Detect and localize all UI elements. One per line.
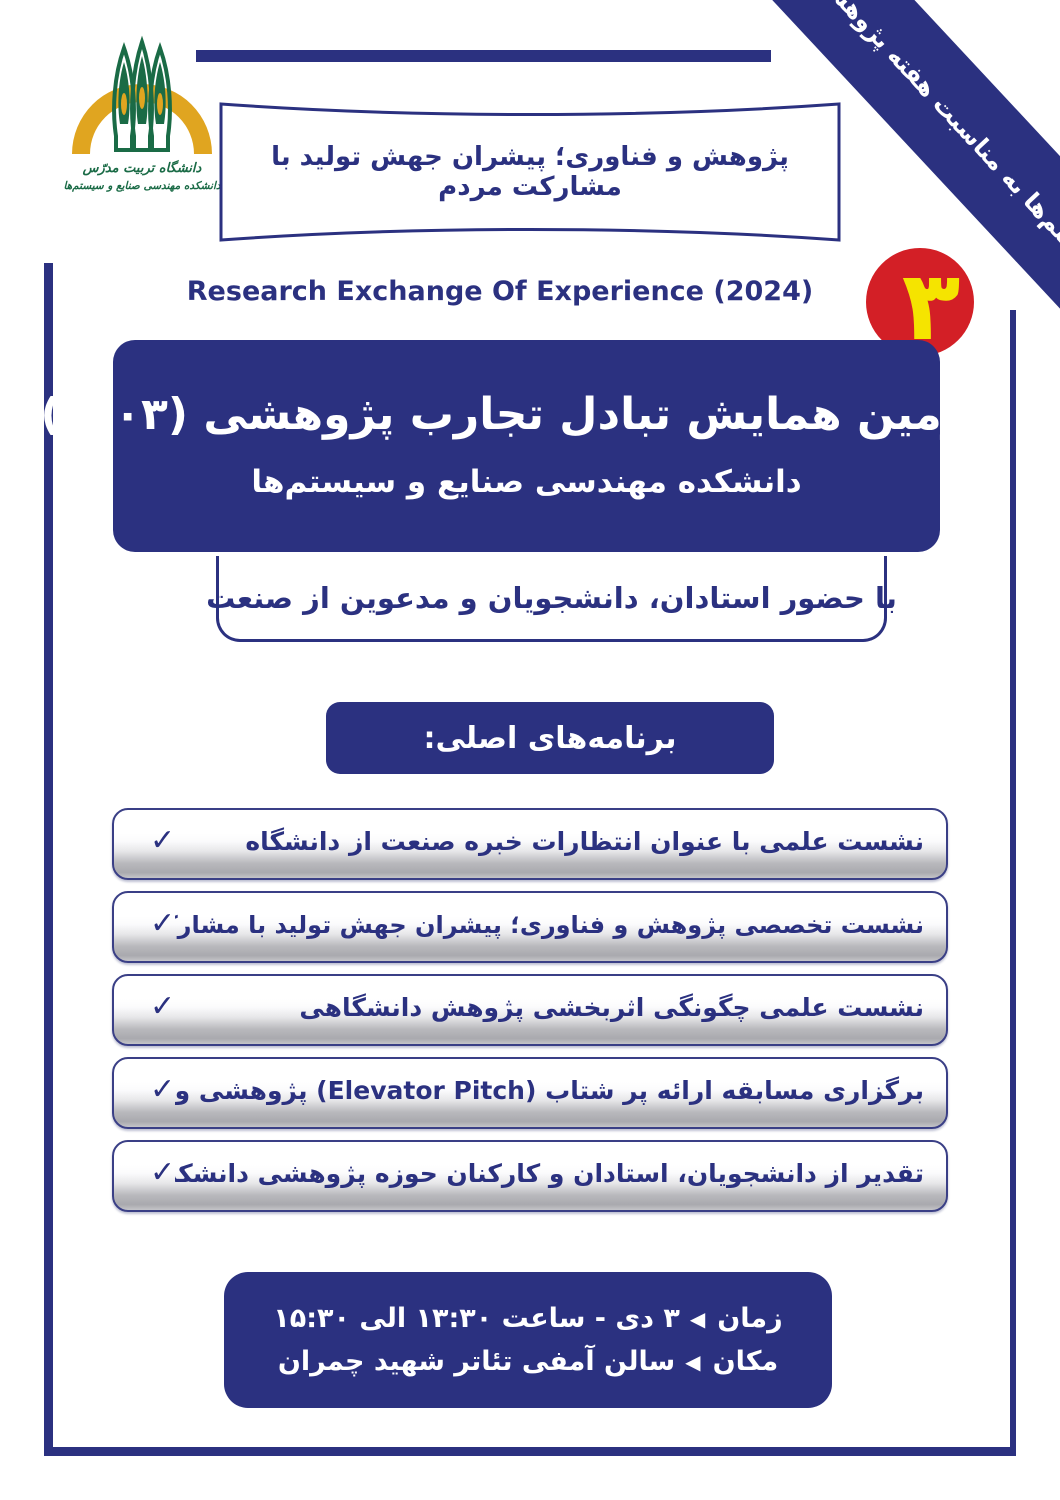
main-title-box: سومین همایش تبادل تجارب پژوهشی (۱۴۰۳) دا… <box>113 340 940 552</box>
programs-header-text: برنامه‌های اصلی: <box>423 721 676 756</box>
english-title: Research Exchange Of Experience (2024) <box>150 276 850 307</box>
attendance-text: با حضور استادان، دانشجویان و مدعوین از ص… <box>206 581 897 615</box>
top-accent-bar <box>196 50 771 62</box>
event-time-label: زمان <box>717 1303 782 1334</box>
edition-badge-number: ۳ <box>886 258 976 354</box>
list-item[interactable]: ✓ نشست علمی چگونگی اثربخشی پژوهش دانشگاه… <box>112 974 948 1046</box>
event-time-row: زمان ◀ ۳ دی - ساعت ۱۳:۳۰ الی ۱۵:۳۰ <box>273 1303 782 1334</box>
slogan-banner: پژوهش و فناوری؛ پیشران جهش تولید با مشار… <box>215 98 845 246</box>
list-item-label: تقدیر از دانشجویان، استادان و کارکنان حو… <box>175 1159 924 1188</box>
list-item[interactable]: ✓ تقدیر از دانشجویان، استادان و کارکنان … <box>112 1140 948 1212</box>
main-subtitle-text: دانشکده مهندسی صنایع و سیستم‌ها <box>251 464 801 500</box>
list-item-label: برگزاری مسابقه ارائه پر شتاب (Elevator P… <box>175 1076 924 1105</box>
check-icon: ✓ <box>150 909 175 939</box>
poster-root: دانشکده مهندسی صنایع و سیستم‌ها به مناسب… <box>0 0 1060 1500</box>
programs-header: برنامه‌های اصلی: <box>326 702 774 774</box>
university-emblem-icon <box>52 32 232 162</box>
list-item-label: نشست علمی با عنوان انتظارات خبره صنعت از… <box>175 827 924 856</box>
arrow-left-icon: ◀ <box>685 1350 700 1374</box>
event-place-value: سالن آمفی تئاتر شهید چمران <box>278 1346 675 1377</box>
event-place-label: مکان <box>713 1346 779 1377</box>
attendance-box: با حضور استادان، دانشجویان و مدعوین از ص… <box>216 556 887 642</box>
list-item-label: نشست تخصصی پژوهش و فناوری؛ پیشران جهش تو… <box>175 911 924 939</box>
logo-faculty-name: دانشکده مهندسی صنایع و سیستم‌ها <box>52 179 232 194</box>
list-item[interactable]: ✓ نشست تخصصی پژوهش و فناوری؛ پیشران جهش … <box>112 891 948 963</box>
arrow-left-icon: ◀ <box>690 1307 705 1331</box>
check-icon: ✓ <box>150 1075 175 1105</box>
list-item[interactable]: ✓ برگزاری مسابقه ارائه پر شتاب (Elevator… <box>112 1057 948 1129</box>
event-info-box: زمان ◀ ۳ دی - ساعت ۱۳:۳۰ الی ۱۵:۳۰ مکان … <box>224 1272 832 1408</box>
event-place-row: مکان ◀ سالن آمفی تئاتر شهید چمران <box>278 1346 778 1377</box>
check-icon: ✓ <box>150 1158 175 1188</box>
list-item-label: نشست علمی چگونگی اثربخشی پژوهش دانشگاهی <box>175 993 924 1022</box>
main-title-text: سومین همایش تبادل تجارب پژوهشی (۱۴۰۳) <box>40 387 1012 442</box>
university-logo: دانشگاه تربیت مدرّس دانشکده مهندسی صنایع… <box>52 32 232 222</box>
programs-list: ✓ نشست علمی با عنوان انتظارات خبره صنعت … <box>112 808 948 1223</box>
event-time-value: ۳ دی - ساعت ۱۳:۳۰ الی ۱۵:۳۰ <box>273 1303 680 1334</box>
frame-bottom-border <box>44 1447 1016 1456</box>
logo-caption: دانشگاه تربیت مدرّس دانشکده مهندسی صنایع… <box>52 160 232 194</box>
check-icon: ✓ <box>150 826 175 856</box>
slogan-text: پژوهش و فناوری؛ پیشران جهش تولید با مشار… <box>215 98 845 246</box>
frame-right-border <box>1010 310 1016 1455</box>
list-item[interactable]: ✓ نشست علمی با عنوان انتظارات خبره صنعت … <box>112 808 948 880</box>
check-icon: ✓ <box>150 992 175 1022</box>
frame-left-border <box>44 263 53 1455</box>
logo-university-name: دانشگاه تربیت مدرّس <box>52 160 232 179</box>
